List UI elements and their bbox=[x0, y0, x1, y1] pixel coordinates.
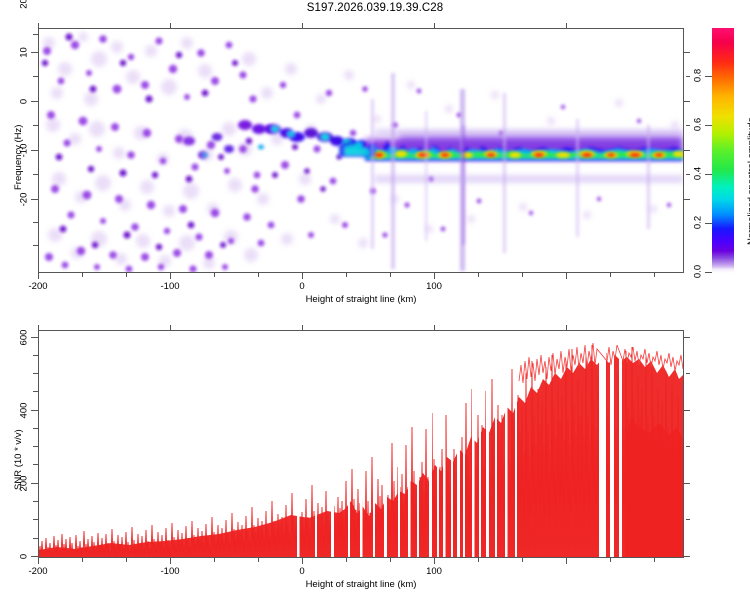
colorbar-tick bbox=[705, 125, 712, 126]
snr-ytick bbox=[33, 355, 38, 356]
spec-xtick-top bbox=[302, 23, 303, 28]
snr-ytick bbox=[33, 446, 38, 447]
snr-xtick bbox=[566, 558, 567, 564]
colorbar-ticklabel: 0.0 bbox=[693, 260, 704, 284]
snr-ytick bbox=[33, 373, 38, 374]
snr-plot-area bbox=[39, 331, 683, 557]
spec-ytick-right bbox=[686, 76, 690, 77]
snr-xtick bbox=[214, 558, 215, 562]
snr-ytick bbox=[33, 464, 38, 465]
spec-xtick bbox=[390, 273, 391, 277]
snr-xticklabel: 100 bbox=[426, 566, 442, 577]
spec-xticklabel: -100 bbox=[160, 281, 179, 292]
snr-xtick-top bbox=[38, 325, 39, 330]
snr-ytick bbox=[33, 428, 38, 429]
snr-xaxis-title: Height of straight line (km) bbox=[306, 579, 417, 590]
colorbar-ticklabel: 0.4 bbox=[693, 162, 704, 186]
spec-yaxis-title: Frequency (Hz) bbox=[13, 125, 24, 190]
snr-xtick bbox=[38, 558, 39, 564]
snr-ytick bbox=[31, 483, 38, 484]
spec-yticklabel: 20 bbox=[19, 0, 30, 16]
spectrogram-panel bbox=[38, 28, 684, 273]
colorbar-ticklabel: 0.2 bbox=[693, 211, 704, 235]
snr-ytick-right bbox=[686, 373, 690, 374]
spec-ytick bbox=[33, 125, 38, 126]
spec-xtick-top bbox=[170, 23, 171, 28]
snr-xtick-top bbox=[302, 325, 303, 330]
spec-xtick bbox=[214, 273, 215, 277]
snr-xtick bbox=[434, 558, 435, 564]
spec-yticklabel: 0 bbox=[19, 90, 30, 114]
spec-ytick-right bbox=[684, 101, 690, 102]
spec-ytick bbox=[33, 245, 38, 246]
spec-ytick bbox=[31, 52, 38, 53]
snr-xtick bbox=[522, 558, 523, 562]
colorbar-tick bbox=[705, 223, 712, 224]
spec-ytick bbox=[33, 34, 38, 35]
snr-ytick-right bbox=[686, 446, 690, 447]
snr-xtick bbox=[610, 558, 611, 562]
spec-xtick bbox=[302, 273, 303, 279]
spec-xticklabel: 100 bbox=[426, 281, 442, 292]
snr-xtick bbox=[258, 558, 259, 562]
snr-xticklabel: -200 bbox=[28, 566, 47, 577]
spec-ytick bbox=[31, 199, 38, 200]
snr-ytick-right bbox=[684, 483, 690, 484]
spec-ytick bbox=[31, 150, 38, 151]
snr-xticklabel: -100 bbox=[160, 566, 179, 577]
page-title: S197.2026.039.19.39.C28 bbox=[0, 2, 750, 14]
spec-yticklabel: -20 bbox=[19, 188, 30, 212]
colorbar-gradient bbox=[712, 28, 734, 273]
snr-ytick-right bbox=[684, 556, 690, 557]
spec-xtick bbox=[38, 273, 39, 279]
colorbar bbox=[712, 28, 734, 273]
snr-yticklabel: 600 bbox=[19, 324, 30, 352]
snr-ytick bbox=[33, 391, 38, 392]
snr-ytick bbox=[33, 501, 38, 502]
snr-yaxis-title: SNR (10 * v/v) bbox=[13, 429, 24, 490]
snr-xtick bbox=[478, 558, 479, 562]
snr-xtick bbox=[302, 558, 303, 564]
spec-xtick bbox=[610, 273, 611, 277]
spec-ytick-right bbox=[684, 199, 690, 200]
snr-xtick bbox=[170, 558, 171, 564]
spec-ytick-right bbox=[686, 125, 690, 126]
snr-xtick bbox=[82, 558, 83, 562]
spec-xtick bbox=[654, 273, 655, 277]
snr-ytick bbox=[31, 410, 38, 411]
spec-xticklabel: 0 bbox=[299, 281, 304, 292]
snr-ytick bbox=[31, 337, 38, 338]
spec-ytick-right bbox=[684, 52, 690, 53]
colorbar-title: Normalized spectral amplitude bbox=[746, 117, 750, 245]
snr-xtick-top bbox=[170, 325, 171, 330]
spec-xtick bbox=[478, 273, 479, 277]
spectrogram-plot-area bbox=[39, 29, 683, 272]
spec-xtick-top bbox=[38, 23, 39, 28]
spec-xtick bbox=[346, 273, 347, 277]
spec-ytick-right bbox=[686, 174, 690, 175]
spec-xtick bbox=[522, 273, 523, 277]
snr-xtick-top bbox=[566, 325, 567, 330]
spec-xtick bbox=[258, 273, 259, 277]
snr-xtick bbox=[126, 558, 127, 562]
colorbar-ticklabel: 0.6 bbox=[693, 113, 704, 137]
colorbar-ticklabel: 0.8 bbox=[693, 64, 704, 88]
snr-yticklabel: 0 bbox=[19, 545, 30, 569]
spec-ytick-right bbox=[684, 150, 690, 151]
snr-trace bbox=[39, 331, 683, 557]
spec-xtick-top bbox=[566, 23, 567, 28]
colorbar-tick bbox=[705, 174, 712, 175]
snr-ytick bbox=[33, 519, 38, 520]
snr-ytick-right bbox=[684, 337, 690, 338]
spec-yticklabel: 10 bbox=[19, 41, 30, 65]
snr-yticklabel: 400 bbox=[19, 397, 30, 425]
snr-ytick bbox=[33, 538, 38, 539]
snr-xtick bbox=[390, 558, 391, 562]
spec-xaxis-title: Height of straight line (km) bbox=[306, 294, 417, 305]
spec-xtick bbox=[434, 273, 435, 279]
spec-xtick bbox=[126, 273, 127, 277]
snr-xtick bbox=[346, 558, 347, 562]
spec-ytick bbox=[31, 101, 38, 102]
spec-xtick bbox=[82, 273, 83, 277]
snr-xticklabel: 0 bbox=[299, 566, 304, 577]
spec-xtick bbox=[170, 273, 171, 279]
snr-xtick-top bbox=[434, 325, 435, 330]
spec-xticklabel: -200 bbox=[28, 281, 47, 292]
colorbar-tick bbox=[705, 272, 712, 273]
snr-ytick bbox=[31, 556, 38, 557]
spec-ytick bbox=[33, 76, 38, 77]
snr-ytick-right bbox=[684, 410, 690, 411]
colorbar-tick bbox=[705, 76, 712, 77]
spec-ytick bbox=[33, 174, 38, 175]
figure-canvas: S197.2026.039.19.39.C28 bbox=[0, 0, 750, 600]
snr-ytick-right bbox=[686, 519, 690, 520]
snr-xtick bbox=[654, 558, 655, 562]
spectrogram-image bbox=[39, 29, 683, 272]
snr-panel bbox=[38, 330, 684, 558]
spec-xtick-top bbox=[434, 23, 435, 28]
spec-ytick bbox=[33, 222, 38, 223]
spec-xtick bbox=[566, 273, 567, 279]
